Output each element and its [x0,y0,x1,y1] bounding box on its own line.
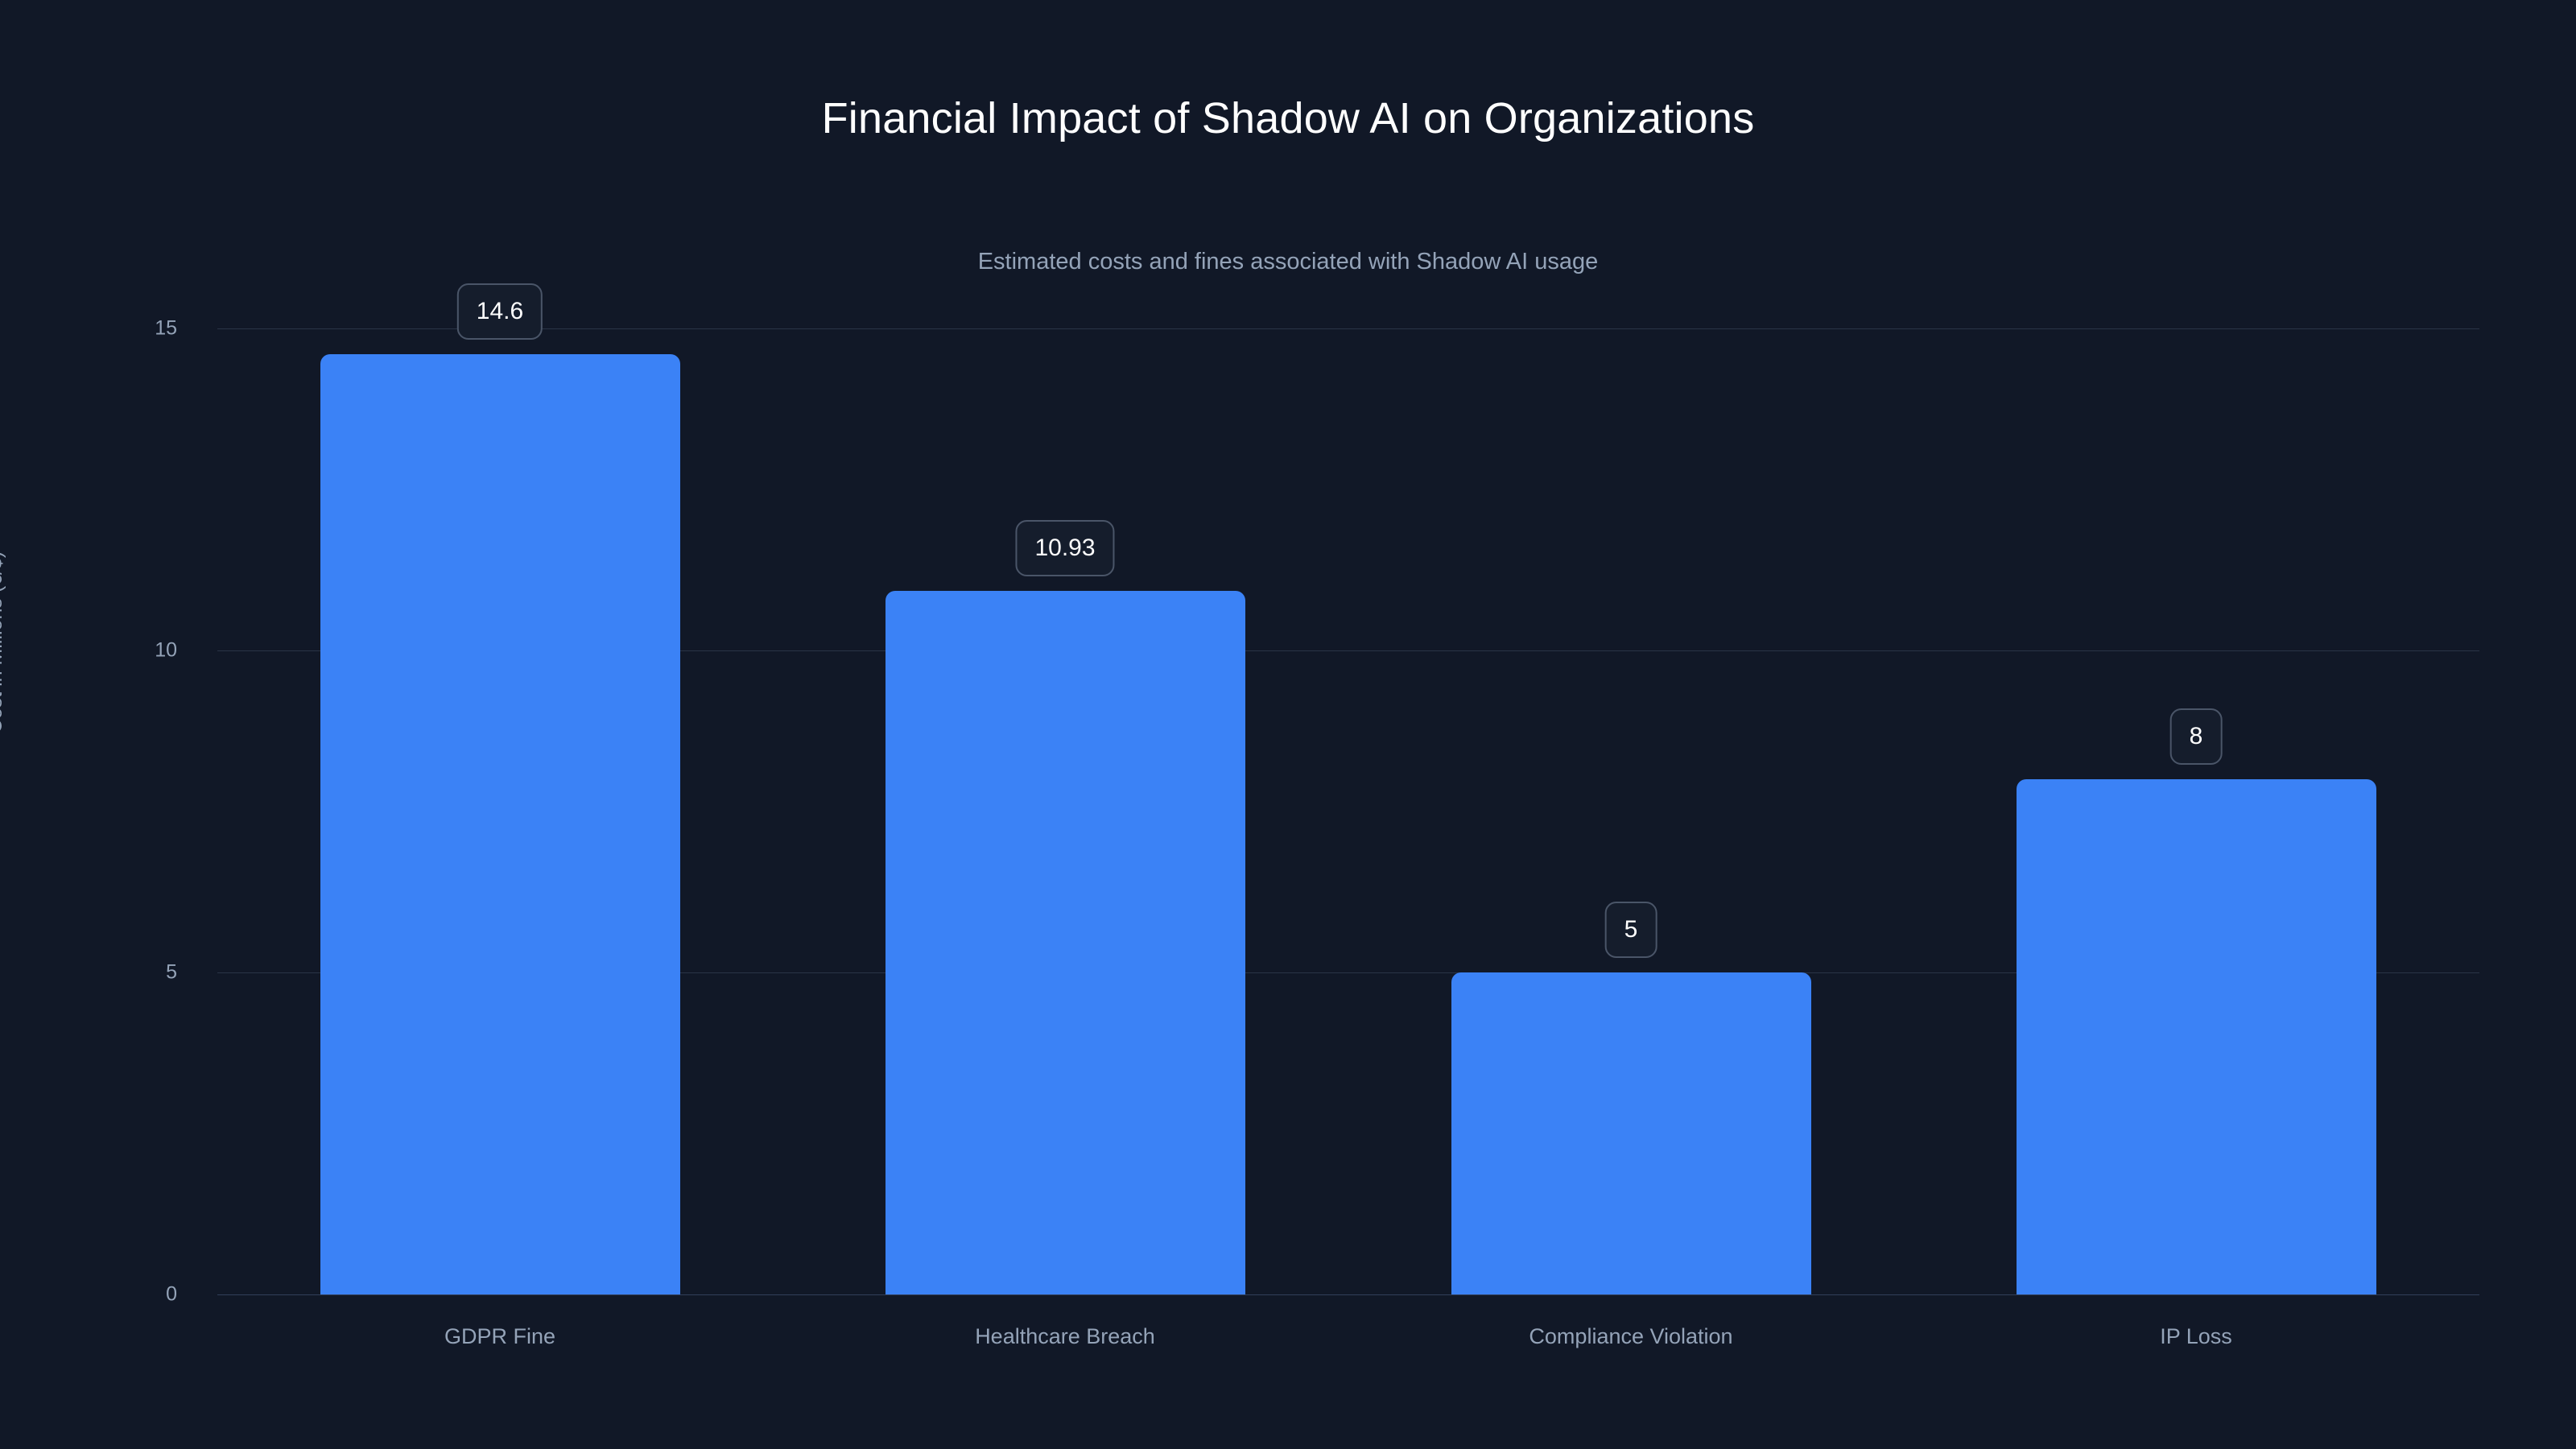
bar-gdpr-fine[interactable] [320,354,680,1294]
value-badge-compliance-violation: 5 [1605,902,1657,958]
x-axis-baseline [217,1294,2479,1295]
y-tick-label-10: 10 [80,639,177,663]
x-tick-label-ip-loss: IP Loss [2160,1324,2232,1349]
chart-canvas: Financial Impact of Shadow AI on Organiz… [0,0,2576,1449]
bar-ip-loss[interactable] [2017,779,2376,1294]
y-tick-label-5: 5 [80,961,177,985]
x-tick-label-compliance-violation: Compliance Violation [1529,1324,1732,1349]
bar-compliance-violation[interactable] [1451,972,1811,1294]
value-badge-ip-loss: 8 [2170,708,2223,765]
value-badge-healthcare-breach: 10.93 [1015,520,1114,576]
y-tick-label-0: 0 [80,1283,177,1307]
bar-healthcare-breach[interactable] [885,591,1245,1294]
chart-title: Financial Impact of Shadow AI on Organiz… [0,95,2576,142]
x-tick-label-healthcare-breach: Healthcare Breach [975,1324,1155,1349]
y-tick-label-15: 15 [80,317,177,341]
plot-area [217,328,2479,1294]
x-tick-label-gdpr-fine: GDPR Fine [444,1324,555,1349]
chart-subtitle: Estimated costs and fines associated wit… [0,250,2576,275]
gridline-15 [217,328,2479,329]
value-badge-gdpr-fine: 14.6 [457,283,543,340]
y-axis-title: Cost in Millions (€/$) [0,473,7,811]
